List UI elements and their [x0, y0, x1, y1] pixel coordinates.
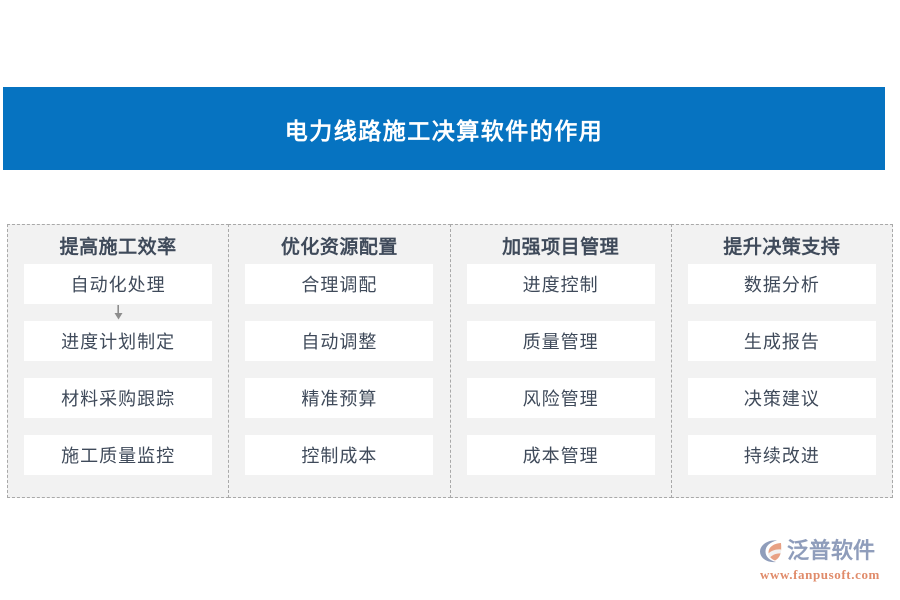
list-item-label: 材料采购跟踪 [61, 385, 175, 411]
list-item[interactable]: 自动化处理 [24, 264, 212, 304]
list-item-label: 精准预算 [301, 385, 377, 411]
list-item-label: 成本管理 [523, 442, 599, 468]
connector-gap [8, 418, 228, 435]
connector-gap [672, 304, 892, 321]
watermark-logo: 泛普软件 www.fanpusoft.com [758, 536, 892, 584]
logo-brand-text: 泛普软件 [787, 538, 875, 564]
list-item-wrapper: 自动调整 [229, 321, 449, 378]
list-item-wrapper: 施工质量监控 [8, 435, 228, 475]
list-item-wrapper: 成本管理 [451, 435, 671, 475]
list-item-wrapper: 进度计划制定 [8, 321, 228, 378]
list-item[interactable]: 合理调配 [245, 264, 433, 304]
list-item-label: 自动化处理 [71, 271, 166, 297]
list-item-label: 自动调整 [301, 328, 377, 354]
list-item-wrapper: 材料采购跟踪 [8, 378, 228, 435]
list-item-label: 风险管理 [523, 385, 599, 411]
list-item[interactable]: 进度计划制定 [24, 321, 212, 361]
connector-gap [229, 418, 449, 435]
title-banner: 电力线路施工决算软件的作用 [3, 87, 885, 170]
list-item-label: 施工质量监控 [61, 442, 175, 468]
connector-gap [672, 418, 892, 435]
list-item-label: 合理调配 [301, 271, 377, 297]
list-item[interactable]: 自动调整 [245, 321, 433, 361]
fanpu-c-mark-icon [758, 538, 786, 564]
list-item[interactable]: 持续改进 [688, 435, 876, 475]
list-item[interactable]: 生成报告 [688, 321, 876, 361]
connector-gap [229, 304, 449, 321]
list-item[interactable]: 控制成本 [245, 435, 433, 475]
list-item[interactable]: 材料采购跟踪 [24, 378, 212, 418]
list-item-label: 进度计划制定 [61, 328, 175, 354]
connector-gap [229, 361, 449, 378]
list-item-label: 控制成本 [301, 442, 377, 468]
list-item[interactable]: 成本管理 [467, 435, 655, 475]
column-header: 提高施工效率 [60, 232, 177, 264]
column-header: 加强项目管理 [502, 232, 619, 264]
list-item-label: 质量管理 [523, 328, 599, 354]
list-item-wrapper: 决策建议 [672, 378, 892, 435]
diagram-column-improve-efficiency: 提高施工效率 自动化处理 进度计划制定 [7, 224, 229, 498]
column-header: 提升决策支持 [723, 232, 840, 264]
list-item-label: 进度控制 [523, 271, 599, 297]
connector-gap [672, 361, 892, 378]
diagram-column-enhance-decision-support: 提升决策支持 数据分析 生成报告 决策建议 [671, 224, 893, 498]
list-item-label: 生成报告 [744, 328, 820, 354]
list-item[interactable]: 决策建议 [688, 378, 876, 418]
list-item[interactable]: 进度控制 [467, 264, 655, 304]
connector-gap [8, 304, 228, 321]
list-item-wrapper: 质量管理 [451, 321, 671, 378]
connector-gap [451, 418, 671, 435]
column-item-list: 自动化处理 进度计划制定 材料采购跟踪 [8, 264, 228, 475]
list-item-wrapper: 合理调配 [229, 264, 449, 321]
logo-url-text: www.fanpusoft.com [760, 567, 892, 583]
connector-gap [451, 304, 671, 321]
page-title: 电力线路施工决算软件的作用 [285, 112, 604, 146]
list-item[interactable]: 精准预算 [245, 378, 433, 418]
list-item-label: 数据分析 [744, 271, 820, 297]
list-item[interactable]: 风险管理 [467, 378, 655, 418]
list-item-wrapper: 精准预算 [229, 378, 449, 435]
column-item-list: 合理调配 自动调整 精准预算 控制成本 [229, 264, 449, 475]
logo-row: 泛普软件 [758, 536, 892, 566]
list-item-wrapper: 生成报告 [672, 321, 892, 378]
list-item-wrapper: 自动化处理 [8, 264, 228, 321]
diagram-columns: 提高施工效率 自动化处理 进度计划制定 [7, 224, 893, 498]
list-item-label: 决策建议 [744, 385, 820, 411]
list-item[interactable]: 数据分析 [688, 264, 876, 304]
arrow-down-icon [114, 305, 123, 320]
list-item[interactable]: 质量管理 [467, 321, 655, 361]
list-item-wrapper: 数据分析 [672, 264, 892, 321]
list-item[interactable]: 施工质量监控 [24, 435, 212, 475]
list-item-label: 持续改进 [744, 442, 820, 468]
diagram-column-strengthen-project-management: 加强项目管理 进度控制 质量管理 风险管理 [450, 224, 672, 498]
column-item-list: 数据分析 生成报告 决策建议 持续改进 [672, 264, 892, 475]
list-item-wrapper: 控制成本 [229, 435, 449, 475]
list-item-wrapper: 进度控制 [451, 264, 671, 321]
column-header: 优化资源配置 [281, 232, 398, 264]
column-item-list: 进度控制 质量管理 风险管理 成本管理 [451, 264, 671, 475]
connector-gap [8, 361, 228, 378]
list-item-wrapper: 持续改进 [672, 435, 892, 475]
list-item-wrapper: 风险管理 [451, 378, 671, 435]
diagram-column-optimize-resources: 优化资源配置 合理调配 自动调整 精准预算 [228, 224, 450, 498]
connector-gap [451, 361, 671, 378]
